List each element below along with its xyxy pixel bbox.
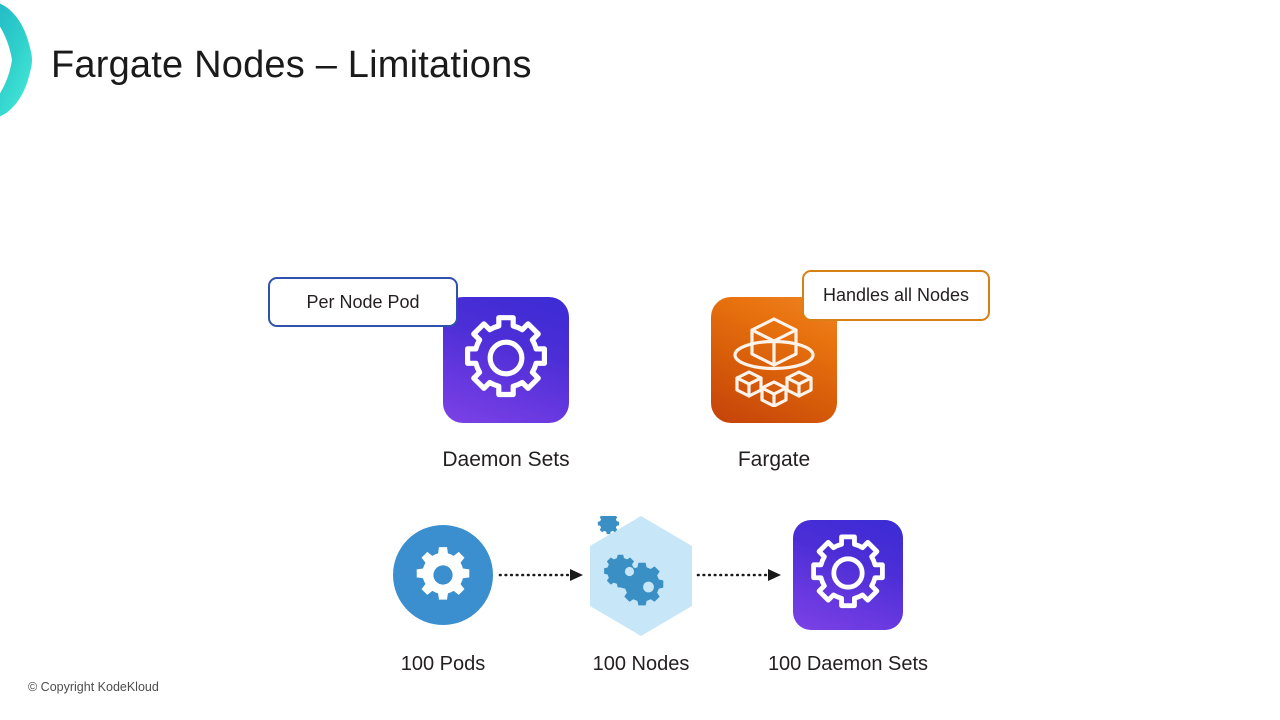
callout-handles-all-nodes-label: Handles all Nodes <box>823 285 969 306</box>
connector-pods-to-nodes <box>498 566 588 584</box>
fargate-caption: Fargate <box>674 448 874 472</box>
nodes-caption: 100 Nodes <box>541 653 741 676</box>
callout-per-node-pod-label: Per Node Pod <box>306 292 419 313</box>
daemon-sets-tile <box>443 297 569 423</box>
copyright-footer: © Copyright KodeKloud <box>28 680 159 694</box>
pods-caption: 100 Pods <box>343 653 543 676</box>
gear-outline-icon <box>805 530 891 621</box>
callout-handles-all-nodes: Handles all Nodes <box>802 270 990 321</box>
nodes-hexagon <box>582 516 700 636</box>
pods-circle <box>393 525 493 625</box>
callout-per-node-pod: Per Node Pod <box>268 277 458 327</box>
daemon-sets-count-caption: 100 Daemon Sets <box>718 653 978 676</box>
slide-canvas: Fargate Nodes – Limitations <box>0 0 1280 720</box>
gear-solid-icon <box>412 544 474 611</box>
fargate-cubes-icon <box>723 309 825 412</box>
daemon-sets-caption: Daemon Sets <box>386 448 626 472</box>
kodekloud-chevron-logo <box>0 0 48 120</box>
daemon-sets-count-tile <box>793 520 903 630</box>
page-title: Fargate Nodes – Limitations <box>51 44 532 87</box>
connector-nodes-to-daemonsets <box>696 566 786 584</box>
gear-outline-icon <box>458 310 554 411</box>
